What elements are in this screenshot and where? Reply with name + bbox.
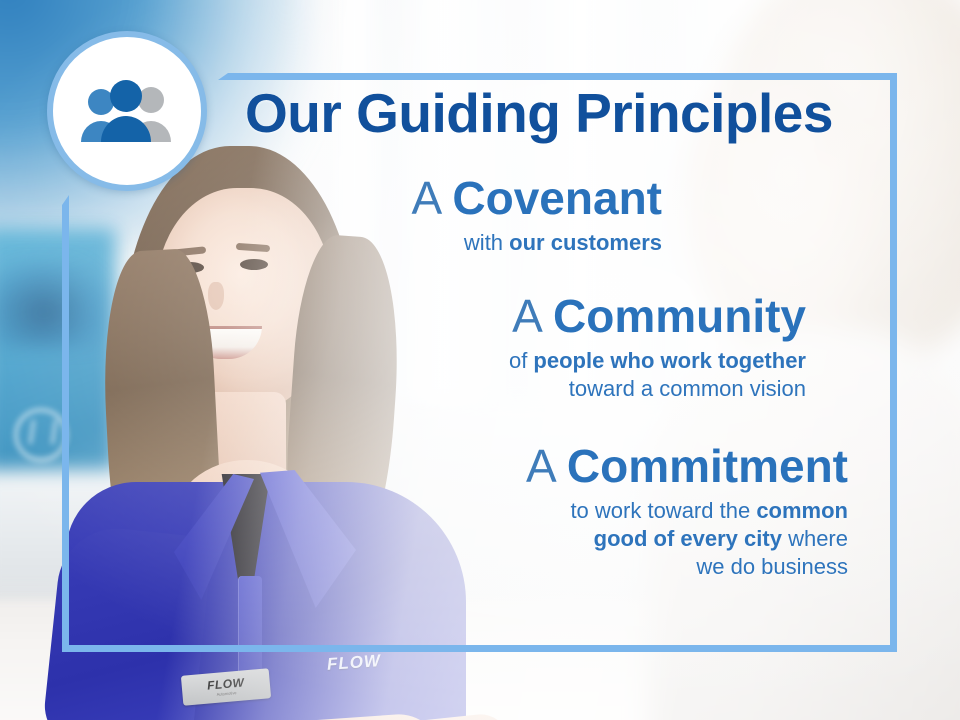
principle-article: A (512, 290, 553, 342)
frame-border-bottom (62, 645, 897, 652)
subtext-line: of people who work together (220, 347, 806, 375)
frame-border-top (218, 73, 897, 80)
principle-heading-community: A Community (220, 293, 806, 341)
principle-block-community: A Community of people who work together … (220, 293, 868, 403)
subtext-span: of (509, 348, 533, 373)
frame-border-right (890, 73, 897, 652)
principle-subtext-community: of people who work together toward a com… (220, 347, 806, 403)
subtext-span: toward a common vision (569, 376, 806, 401)
people-badge (47, 31, 207, 191)
subtext-span-bold: people who work together (533, 348, 806, 373)
subtext-span: where (782, 526, 848, 551)
principle-block-commitment: A Commitment to work toward the common g… (220, 443, 868, 581)
principle-heading-covenant: A Covenant (220, 175, 662, 223)
subtext-span: we do business (696, 554, 848, 579)
page-title: Our Guiding Principles (220, 86, 868, 141)
principle-subtext-covenant: with our customers (220, 229, 662, 257)
guiding-principles-graphic: FLOW FLOW Automotive (0, 0, 960, 720)
principle-article: A (526, 440, 567, 492)
frame-border-left (62, 195, 69, 652)
subtext-line: with our customers (220, 229, 662, 257)
subtext-span-bold: our customers (509, 230, 662, 255)
subtext-span-bold: common (756, 498, 848, 523)
principle-subtext-commitment: to work toward the common good of every … (220, 497, 848, 581)
subtext-span: to work toward the (570, 498, 756, 523)
subtext-line: to work toward the common (220, 497, 848, 525)
principle-heading-commitment: A Commitment (220, 443, 848, 491)
principle-block-covenant: A Covenant with our customers (220, 175, 868, 257)
principle-title: Community (553, 290, 806, 342)
subtext-line: toward a common vision (220, 375, 806, 403)
subtext-line: good of every city where (220, 525, 848, 553)
subtext-span-bold: good of every city (594, 526, 782, 551)
text-content: Our Guiding Principles A Covenant with o… (220, 86, 868, 581)
subtext-span: with (464, 230, 509, 255)
subtext-line: we do business (220, 553, 848, 581)
people-group-icon (75, 80, 179, 142)
principle-title: Commitment (567, 440, 848, 492)
principle-title: Covenant (452, 172, 662, 224)
principle-article: A (411, 172, 452, 224)
